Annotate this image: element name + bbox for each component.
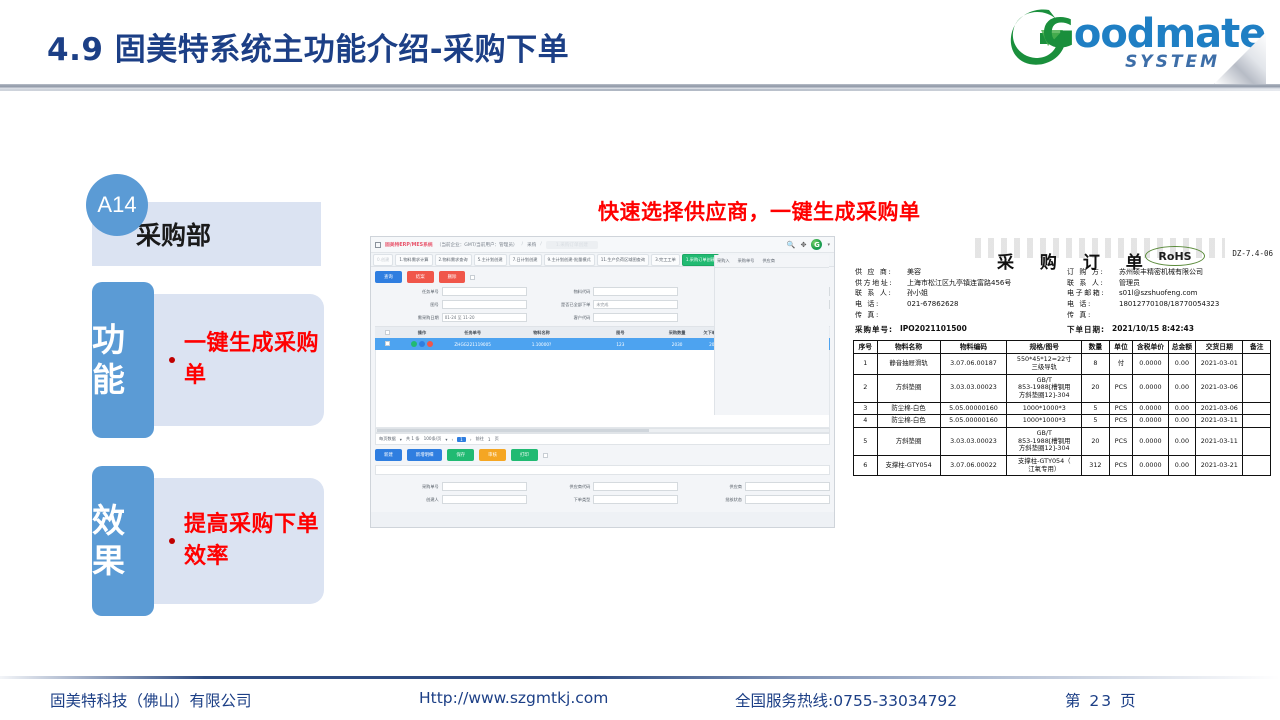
erp-pager-total-label: 每页数据 [379,436,396,442]
erp-label-purchase-date: 需采购日期 [375,315,442,321]
erp-tab-7[interactable]: 3.完工工单 [651,254,680,266]
po-th-1: 物料名称 [877,341,940,354]
erp-field-material-code: 物料代码 [527,287,679,296]
function-card: 一键生成采购单 功能 [92,282,324,438]
erp-row-checkbox-cell[interactable] [375,341,400,347]
badge-a14: A14 [86,174,148,236]
po-cell-3-6: 0.0000 [1133,415,1168,428]
erp-side-panel-header: 采购入 采购单号 供应商 [715,255,829,268]
po-order-no-block: 采购单号: IPO2021101500 [855,324,967,335]
po-line-items-table: 序号 物料名称 物料编码 规格/图号 数量 单位 含税单价 总金额 交货日期 备… [853,340,1271,476]
erp-input-customer-code[interactable] [593,313,678,322]
scrollbar-thumb[interactable] [377,429,649,432]
po-supplier-row-2: 联 系 人: 孙小姐 [855,289,1060,298]
po-order-date-value: 2021/10/15 8:42:43 [1112,324,1194,335]
erp-input-order-type[interactable] [593,495,678,504]
effect-card-body: 提高采购下单效率 [151,478,324,604]
erp-tab-2[interactable]: 2.物料需求查询 [435,254,472,266]
erp-row-op-cell[interactable] [400,341,445,348]
erp-pager-goto-input[interactable]: 1 [488,437,491,442]
po-cell-4-9 [1243,427,1271,455]
po-cell-0-2: 3.07.06.00187 [940,354,1007,374]
po-doc-code: DZ-7.4-06 [1232,249,1273,258]
table-row: 1 静音抽屉滑轨 3.07.06.00187 550*45*12=22寸三级导轨… [854,354,1271,374]
po-supplier-row-3: 电 话: 021-67862628 [855,300,1060,309]
po-th-6: 含税单价 [1133,341,1168,354]
po-th-0: 序号 [854,341,878,354]
po-order-date-block: 下单日期: 2021/10/15 8:42:43 [1067,324,1194,335]
erp-row-drawing-no: 123 [582,342,659,347]
erp-grid-header-name: 物料名称 [501,330,582,336]
erp-row-checkbox[interactable] [385,341,390,346]
erp-tab-4[interactable]: 7.日计划创建 [509,254,542,266]
po-supplier-row-4: 传 真: [855,311,1060,320]
red-callout-text: 快速选择供应商，一键生成采购单 [598,196,921,226]
po-cell-5-3: 支撑柱-GTY054（江氧专用） [1007,456,1082,476]
erp-tab-3[interactable]: 5.主计划创建 [474,254,507,266]
erp-toolbar-checkbox[interactable] [470,275,475,280]
erp-grid-header-op: 操作 [400,330,445,336]
po-cell-5-6: 0.0000 [1133,456,1168,476]
po-supplier-value-1: 上海市松江区九亭镇连富路456号 [907,279,1060,288]
chevron-down-icon-2[interactable]: ▾ [445,437,447,442]
po-cell-0-1: 静音抽屉滑轨 [877,354,940,374]
po-cell-5-0: 6 [854,456,878,476]
po-cell-1-5: PCS [1109,374,1133,402]
po-buyer-label-1: 联 系 人: [1067,279,1119,288]
bullet-dot-icon [169,357,175,363]
erp-add-detail-button[interactable]: 新增明细 [407,449,443,461]
erp-pager-prev[interactable]: ‹ [451,437,453,442]
erp-new-button[interactable]: 新建 [375,449,402,461]
po-cell-3-0: 4 [854,415,878,428]
po-buyer-value-3: 18012770108/18770054323 [1119,300,1272,309]
erp-field-po-no: 采购单号 [375,482,527,491]
footer-hotline: 全国服务热线:0755-33034792 [735,689,957,711]
po-cell-2-1: 防尘棉-白色 [877,402,940,415]
po-buyer-value-2: s01l@szshuofeng.com [1119,289,1272,298]
logo-subtitle: SYSTEM [1125,52,1220,72]
po-cell-2-3: 1000*1000*3 [1007,402,1082,415]
logo-wordmark: Goodmate [1042,11,1265,57]
po-cell-4-5: PCS [1109,427,1133,455]
goodmate-circle-icon: G [811,239,822,250]
po-cell-2-9 [1243,402,1271,415]
erp-label-material-code: 物料代码 [527,289,594,295]
po-buyer-label-4: 传 真: [1067,311,1119,320]
erp-tab-5[interactable]: 9.主计划创建-批量模式 [544,254,595,266]
erp-topbar: 固美特ERP/MES系统 （当前企业：GMT/当前用户：管理员） / 采购 / … [371,237,834,253]
erp-pagination[interactable]: 每页数据 ▾ 共 1 条 100条/页 ▾ ‹ 1 › 前往 1 页 [375,433,830,445]
po-table-body: 1 静音抽屉滑轨 3.07.06.00187 550*45*12=22寸三级导轨… [854,354,1271,476]
po-cell-4-3: GB/T853-1988[槽钢用方斜垫圈12]-304 [1007,427,1082,455]
footer-url[interactable]: Http://www.szgmtkj.com [419,689,608,707]
po-cell-2-4: 5 [1082,402,1110,415]
po-cell-3-8: 2021-03-11 [1196,415,1243,428]
erp-crumb-company: （当前企业：GMT/当前用户：管理员） [437,242,518,248]
po-order-date-label: 下单日期: [1067,324,1105,335]
po-buyer-label-2: 电子邮箱: [1067,289,1119,298]
bullet-dot-icon [169,538,175,544]
erp-field-supplier: 供应商 [678,482,830,491]
erp-brand-label: 固美特ERP/MES系统 [385,241,433,248]
erp-message-bar [375,465,830,475]
po-supplier-label-0: 供 应 商: [855,268,907,277]
po-buyer-row-1: 联 系 人: 管理员 [1067,279,1272,288]
erp-label-approval-status: 批核状态 [678,497,745,503]
erp-crumb-separator: / [522,242,524,247]
po-cell-0-0: 1 [854,354,878,374]
erp-crumb-current: 1.采购订单创建 [546,241,598,249]
po-cell-0-3: 550*45*12=22寸三级导轨 [1007,354,1082,374]
po-cell-4-1: 方斜垫圈 [877,427,940,455]
erp-label-creator: 创建人 [375,497,442,503]
po-supplier-label-4: 传 真: [855,311,907,320]
erp-input-material-code[interactable] [593,287,678,296]
erp-input-task-no[interactable] [442,287,527,296]
po-cell-5-8: 2021-03-21 [1196,456,1243,476]
erp-label-order-type: 下单类型 [527,497,594,503]
erp-input-creator[interactable] [442,495,527,504]
po-th-9: 备注 [1243,341,1271,354]
po-cell-5-4: 312 [1082,456,1110,476]
erp-pager-current[interactable]: 1 [457,437,466,442]
erp-field-drawing-no: 图号 [375,300,527,309]
add-icon[interactable] [419,341,425,347]
po-cell-2-5: PCS [1109,402,1133,415]
po-cell-1-4: 20 [1082,374,1110,402]
chevron-down-icon[interactable]: ▾ [827,242,830,248]
po-cell-2-2: 5.05.00000160 [940,402,1007,415]
erp-grid-empty-area: 采购入 采购单号 供应商 [375,350,830,428]
po-buyer-label-0: 订 购 方: [1067,268,1119,277]
po-supplier-value-0: 美容 [907,268,1060,277]
po-cell-3-3: 1000*1000*3 [1007,415,1082,428]
erp-crumb-module: 采购 [527,242,536,248]
erp-input-po-no[interactable] [442,482,527,491]
po-supplier-label-3: 电 话: [855,300,907,309]
po-supplier-label-2: 联 系 人: [855,289,907,298]
po-th-3: 规格/图号 [1007,341,1082,354]
chevron-down-icon[interactable]: ▾ [400,437,402,442]
po-buyer-value-1: 管理员 [1119,279,1272,288]
erp-input-purchase-date-range[interactable]: 01-24 至 11-20 [442,313,527,322]
erp-label-supplier: 供应商 [678,484,745,490]
erp-close-case-button[interactable]: 结案 [407,271,434,283]
po-cell-2-6: 0.0000 [1133,402,1168,415]
function-bullet-text: 一键生成采购单 [184,328,324,392]
erp-crumb-separator-2: / [540,242,542,247]
logo-word-part2: oodma [1074,11,1221,57]
po-cell-1-3: GB/T853-1988[槽钢用方斜垫圈12]-304 [1007,374,1082,402]
po-cell-3-1: 防尘棉-白色 [877,415,940,428]
po-cell-3-7: 0.00 [1168,415,1196,428]
po-cell-2-0: 3 [854,402,878,415]
po-buyer-row-2: 电子邮箱: s01l@szshuofeng.com [1067,289,1272,298]
po-cell-2-8: 2021-03-06 [1196,402,1243,415]
erp-label-task-no: 任务单号 [375,289,442,295]
po-th-2: 物料编码 [940,341,1007,354]
po-cell-3-2: 5.05.00000160 [940,415,1007,428]
function-tab-label: 功能 [92,282,154,438]
erp-side-col-2: 供应商 [762,258,775,264]
po-cell-1-1: 方斜垫圈 [877,374,940,402]
department-label: 采购部 [136,216,211,252]
erp-pager-per-page[interactable]: 100条/页 [424,436,442,442]
erp-screenshot: 固美特ERP/MES系统 （当前企业：GMT/当前用户：管理员） / 采购 / … [370,236,835,528]
po-cell-0-5: 付 [1109,354,1133,374]
erp-side-col-0: 采购入 [717,258,730,264]
erp-main-panel: 查询 结案 删除 任务单号 物料代码 物料名称 图号 是否已全 [371,267,834,512]
effect-card: 提高采购下单效率 效果 [92,466,324,616]
footer-page-number: 第 23 页 [1065,689,1138,711]
erp-field-customer-code: 客户代码 [527,313,679,322]
erp-row-task-no: ZHGG221119005 [444,342,501,347]
purchase-order-document: 采 购 订 单 RoHS DZ-7.4-06 供 应 商: 美容 供方地址: 上… [845,236,1277,528]
po-cell-4-7: 0.00 [1168,427,1196,455]
menu-icon[interactable] [375,242,381,248]
erp-label-drawing-no: 图号 [375,302,442,308]
po-cell-4-6: 0.0000 [1133,427,1168,455]
po-table-header-row: 序号 物料名称 物料编码 规格/图号 数量 单位 含税单价 总金额 交货日期 备… [854,341,1271,354]
erp-label-customer-code: 客户代码 [527,315,594,321]
erp-label-supplier-code: 供应商代码 [527,484,594,490]
po-buyer-value-0: 苏州硕丰精密机械有限公司 [1119,268,1272,277]
erp-pager-count: 共 1 条 [406,436,420,442]
erp-bottom-checkbox[interactable] [543,453,548,458]
po-cell-0-8: 2021-03-01 [1196,354,1243,374]
edit-icon[interactable] [411,341,417,347]
po-cell-3-4: 5 [1082,415,1110,428]
effect-bullet-text: 提高采购下单效率 [184,509,324,573]
po-cell-0-6: 0.0000 [1133,354,1168,374]
po-cell-4-4: 20 [1082,427,1110,455]
po-cell-5-1: 支撑柱-GTY054 [877,456,940,476]
po-buyer-value-4 [1119,311,1272,320]
table-row: 6 支撑柱-GTY054 3.07.06.00022 支撑柱-GTY054（江氧… [854,456,1271,476]
po-buyer-row-3: 电 话: 18012770108/18770054323 [1067,300,1272,309]
po-supplier-row-0: 供 应 商: 美容 [855,268,1060,277]
po-cell-2-7: 0.00 [1168,402,1196,415]
erp-input-supplier-code[interactable] [593,482,678,491]
erp-label-all-ordered: 是否已全部下单 [527,302,594,308]
erp-field-order-type: 下单类型 [527,495,679,504]
erp-topbar-actions: 🔍 ✥ G ▾ [787,239,830,250]
erp-data-grid: 操作 任务单号 物料名称 图号 采购数量 欠下单数 供应商编号 供应商名称 合同… [375,326,830,428]
table-row: 2 方斜垫圈 3.03.03.00023 GB/T853-1988[槽钢用方斜垫… [854,374,1271,402]
erp-query-button[interactable]: 查询 [375,271,402,283]
po-cell-3-9 [1243,415,1271,428]
po-th-4: 数量 [1082,341,1110,354]
effect-tab-label: 效果 [92,466,154,616]
erp-field-all-ordered: 是否已全部下单 未完成 [527,300,679,309]
expand-icon[interactable]: ✥ [801,241,807,249]
po-cell-0-9 [1243,354,1271,374]
po-supplier-value-3: 021-67862628 [907,300,1060,309]
po-th-5: 单位 [1109,341,1133,354]
erp-audit-button[interactable]: 审核 [479,449,506,461]
table-row: 4 防尘棉-白色 5.05.00000160 1000*1000*3 5 PCS… [854,415,1271,428]
po-cell-1-0: 2 [854,374,878,402]
erp-tab-1[interactable]: 1.物料需求计算 [395,254,432,266]
po-supplier-value-2: 孙小姐 [907,289,1060,298]
po-cell-1-2: 3.03.03.00023 [940,374,1007,402]
erp-grid-header-qty: 采购数量 [659,330,696,336]
table-row: 3 防尘棉-白色 5.05.00000160 1000*1000*3 5 PCS… [854,402,1271,415]
erp-select-all-ordered[interactable]: 未完成 [593,300,678,309]
po-cell-5-7: 0.00 [1168,456,1196,476]
search-icon[interactable]: 🔍 [787,241,796,249]
erp-row-material-name: 1.10000? [501,342,582,347]
erp-select-all-checkbox[interactable] [385,330,390,335]
po-cell-5-5: PCS [1109,456,1133,476]
po-cell-4-8: 2021-03-11 [1196,427,1243,455]
erp-label-po-no: 采购单号 [375,484,442,490]
slide-header: 4.9 固美特系统主功能介绍-采购下单 Goodmate SYSTEM [0,0,1280,86]
header-divider-thin [0,89,1280,91]
erp-field-purchase-date: 需采购日期 01-24 至 11-20 [375,313,527,322]
po-supplier-info: 供 应 商: 美容 供方地址: 上海市松江区九亭镇连富路456号 联 系 人: … [855,268,1060,322]
po-supplier-value-4 [907,311,1060,320]
erp-pager-goto-label: 前往 [476,436,484,442]
po-supplier-row-1: 供方地址: 上海市松江区九亭镇连富路456号 [855,279,1060,288]
erp-input-drawing-no[interactable] [442,300,527,309]
erp-grid-header-checkbox[interactable] [375,330,400,336]
erp-input-approval-status[interactable] [745,495,830,504]
po-cell-3-5: PCS [1109,415,1133,428]
po-cell-1-8: 2021-03-06 [1196,374,1243,402]
table-row: 5 方斜垫圈 3.03.03.00023 GB/T853-1988[槽钢用方斜垫… [854,427,1271,455]
rohs-badge-icon: RoHS [1145,246,1205,266]
erp-row-qty: 2030 [659,342,696,347]
po-th-8: 交货日期 [1196,341,1243,354]
function-card-body: 一键生成采购单 [151,294,324,426]
goodmate-logo: Goodmate SYSTEM [1004,2,1266,82]
erp-field-supplier-code: 供应商代码 [527,482,679,491]
erp-order-form: 采购单号 供应商代码 供应商 创建人 下单类型 批核状态 [375,478,830,508]
erp-tab-6[interactable]: 11.生产负荷区域图查询 [597,254,649,266]
delete-icon[interactable] [427,341,433,347]
footer-company: 固美特科技（佛山）有限公司 [50,689,252,711]
erp-pager-page-unit: 页 [495,436,499,442]
po-cell-0-4: 8 [1082,354,1110,374]
erp-input-supplier[interactable] [745,482,830,491]
slide-footer: 固美特科技（佛山）有限公司 Http://www.szgmtkj.com 全国服… [0,686,1280,720]
erp-side-panel: 采购入 采购单号 供应商 [714,255,829,415]
logo-word-part1: G [1042,11,1074,57]
po-supplier-label-1: 供方地址: [855,279,907,288]
po-cell-1-9 [1243,374,1271,402]
po-cell-5-9 [1243,456,1271,476]
po-cell-4-0: 5 [854,427,878,455]
po-order-no-label: 采购单号: [855,324,893,335]
erp-side-col-1: 采购单号 [738,258,755,264]
erp-save-button[interactable]: 保存 [447,449,474,461]
erp-field-creator: 创建人 [375,495,527,504]
erp-print-button[interactable]: 打印 [511,449,538,461]
po-cell-5-2: 3.07.06.00022 [940,456,1007,476]
po-buyer-info: 订 购 方: 苏州硕丰精密机械有限公司 联 系 人: 管理员 电子邮箱: s01… [1067,268,1272,322]
erp-field-task-no: 任务单号 [375,287,527,296]
footer-divider [0,676,1280,679]
erp-pager-next[interactable]: › [470,437,472,442]
po-cell-1-7: 0.00 [1168,374,1196,402]
erp-delete-button[interactable]: 删除 [439,271,466,283]
po-buyer-row-4: 传 真: [1067,311,1272,320]
po-buyer-label-3: 电 话: [1067,300,1119,309]
po-cell-0-7: 0.00 [1168,354,1196,374]
po-th-7: 总金额 [1168,341,1196,354]
erp-bottom-buttons: 新建 新增明细 保存 审核 打印 [375,449,830,461]
erp-grid-header-task: 任务单号 [444,330,501,336]
erp-tab-0[interactable]: 0.创建 [373,254,393,266]
po-buyer-row-0: 订 购 方: 苏州硕丰精密机械有限公司 [1067,268,1272,277]
page-title: 4.9 固美特系统主功能介绍-采购下单 [47,24,569,69]
po-cell-4-2: 3.03.03.00023 [940,427,1007,455]
po-cell-1-6: 0.0000 [1133,374,1168,402]
po-order-no-value: IPO2021101500 [900,324,967,335]
erp-grid-header-drawing: 图号 [582,330,659,336]
erp-field-approval-status: 批核状态 [678,495,830,504]
